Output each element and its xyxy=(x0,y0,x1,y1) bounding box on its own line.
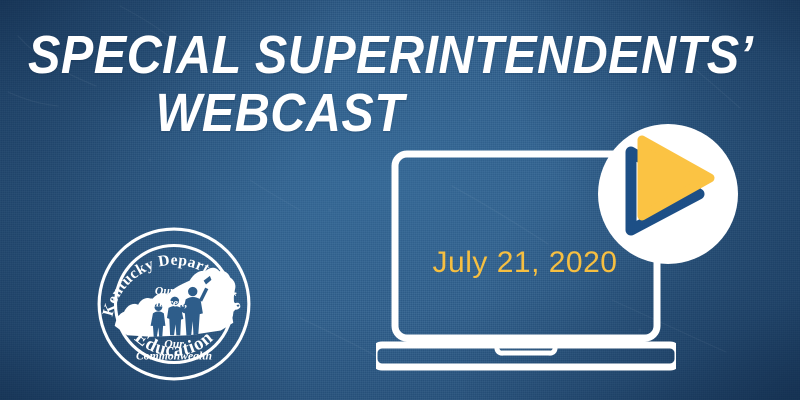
headline-line-2: WEBCAST xyxy=(28,84,532,142)
laptop-trackpad-notch xyxy=(497,345,555,353)
play-button-badge[interactable] xyxy=(592,118,744,270)
laptop-base xyxy=(376,345,676,367)
kde-seal-logo: Kentucky Department of Education xyxy=(96,226,252,382)
seal-inner-text-bottom-line-2: Commonwealth xyxy=(136,349,212,362)
seal-inner-text-top-line-2: Children, xyxy=(142,296,188,309)
webcast-promo-banner: SPECIAL SUPERINTENDENTS’ WEBCAST July 21… xyxy=(0,0,800,400)
headline: SPECIAL SUPERINTENDENTS’ WEBCAST xyxy=(28,26,532,142)
headline-line-1: SPECIAL SUPERINTENDENTS’ xyxy=(28,25,754,85)
